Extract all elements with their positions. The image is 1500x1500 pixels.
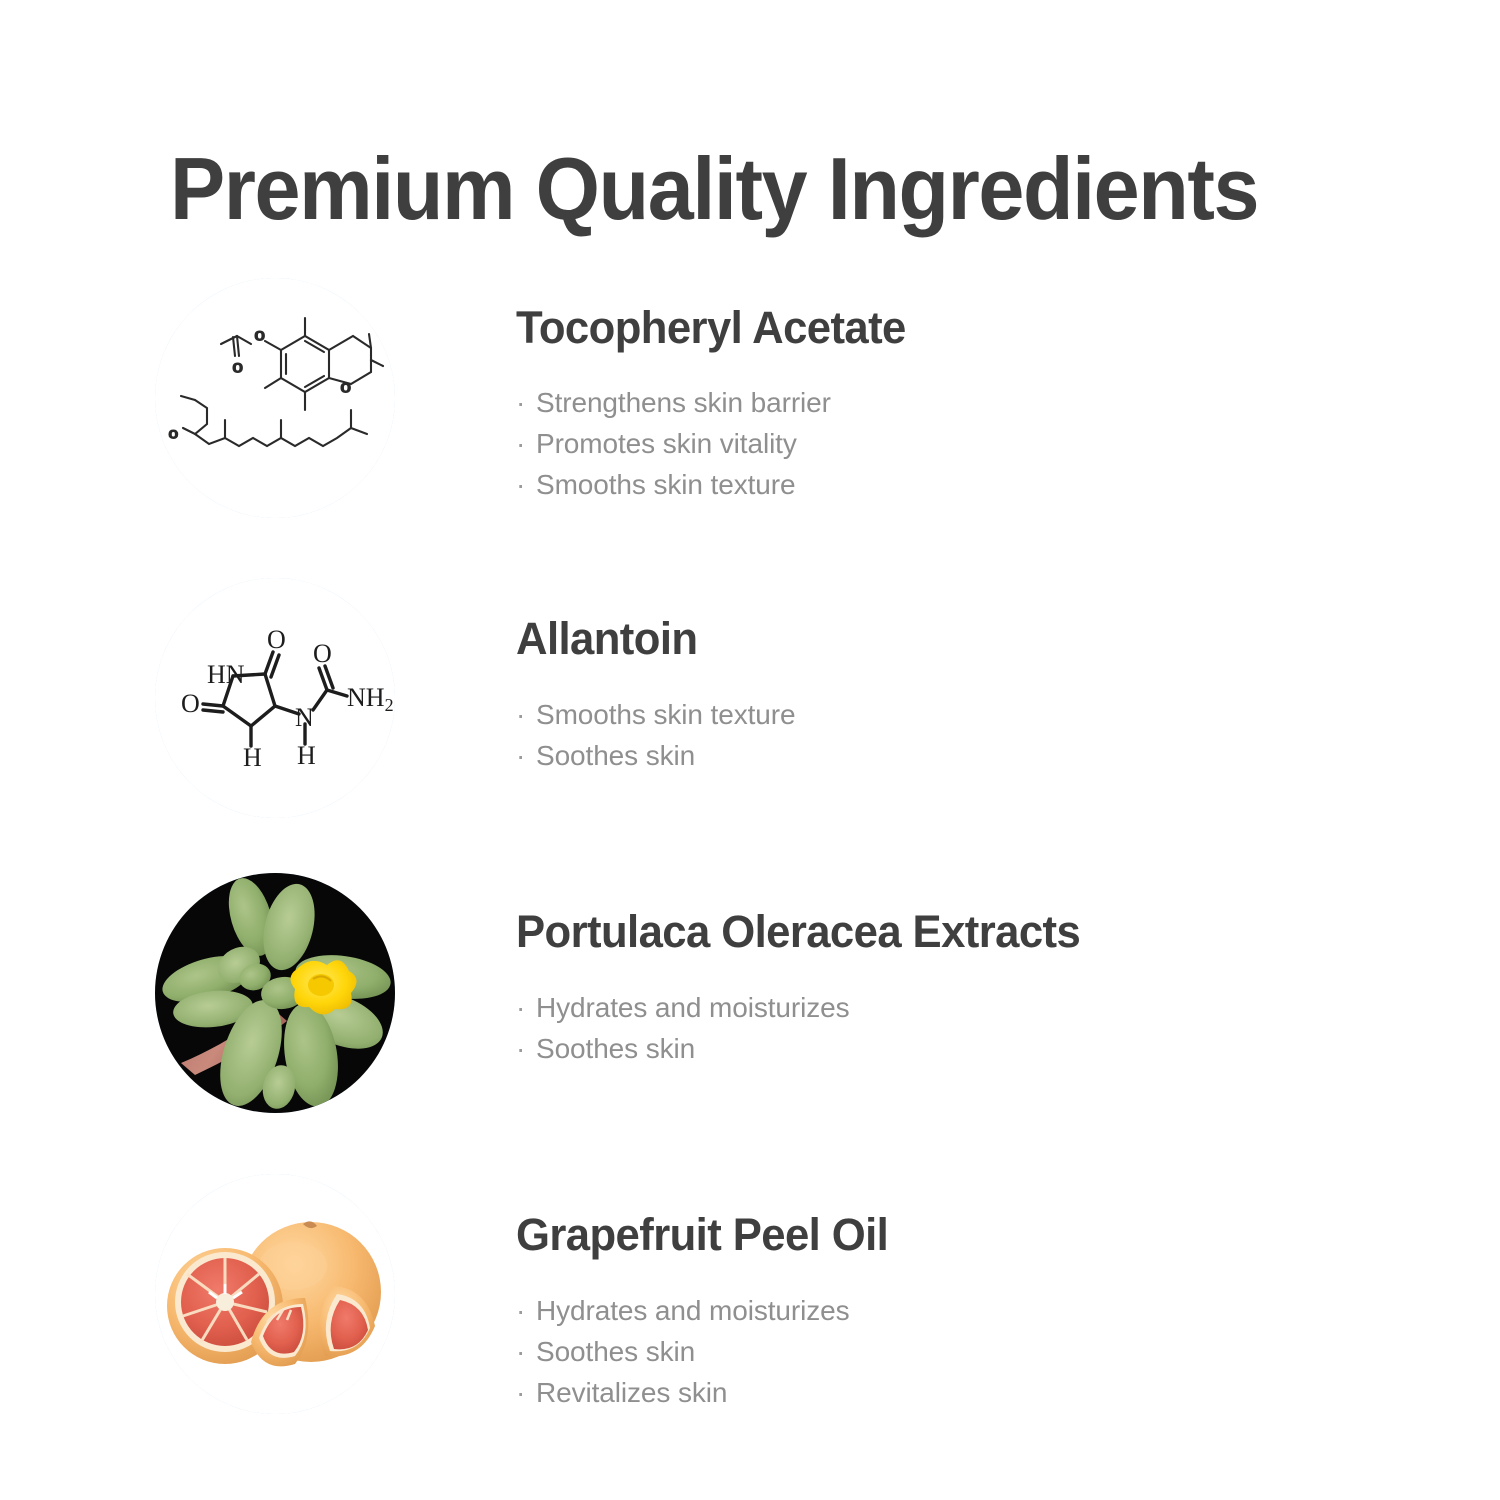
- ingredients-infographic: Premium Quality Ingredients O: [0, 0, 1500, 1500]
- benefit-text: Smooths skin texture: [536, 469, 795, 500]
- list-item: ·Soothes skin: [516, 1331, 1436, 1372]
- tocopheryl-acetate-structure-icon: O O O: [155, 278, 395, 518]
- bullet-glyph: ·: [516, 1372, 536, 1413]
- ingredient-text-column: Allantoin ·Smooths skin texture ·Soothes…: [516, 578, 1436, 776]
- benefit-list: ·Smooths skin texture ·Soothes skin: [516, 694, 1436, 776]
- bullet-glyph: ·: [516, 1290, 536, 1331]
- list-item: ·Hydrates and moisturizes: [516, 1290, 1436, 1331]
- ingredient-text-column: Tocopheryl Acetate ·Strengthens skin bar…: [516, 278, 1436, 505]
- list-item: ·Smooths skin texture: [516, 694, 1436, 735]
- list-item: ·Revitalizes skin: [516, 1372, 1436, 1413]
- bullet-glyph: ·: [516, 464, 536, 505]
- benefit-text: Soothes skin: [536, 740, 695, 771]
- list-item: ·Hydrates and moisturizes: [516, 987, 1436, 1028]
- svg-text:O: O: [255, 328, 264, 343]
- bullet-glyph: ·: [516, 1028, 536, 1069]
- benefit-list: ·Hydrates and moisturizes ·Soothes skin …: [516, 1290, 1436, 1413]
- bullet-glyph: ·: [516, 423, 536, 464]
- ingredient-text-column: Portulaca Oleracea Extracts ·Hydrates an…: [516, 873, 1436, 1069]
- svg-text:O: O: [341, 380, 350, 395]
- atom-label-o: O: [267, 625, 286, 654]
- bullet-glyph: ·: [516, 694, 536, 735]
- atom-label-hn: HN: [207, 660, 245, 689]
- atom-label-h: H: [243, 743, 262, 772]
- svg-text:O: O: [169, 427, 178, 441]
- bullet-glyph: ·: [516, 735, 536, 776]
- list-item: ·Promotes skin vitality: [516, 423, 1436, 464]
- bullet-glyph: ·: [516, 987, 536, 1028]
- list-item: ·Soothes skin: [516, 1028, 1436, 1069]
- benefit-text: Hydrates and moisturizes: [536, 1295, 850, 1326]
- benefit-text: Soothes skin: [536, 1336, 695, 1367]
- ingredient-name: Grapefruit Peel Oil: [516, 1211, 1408, 1258]
- purslane-plant-photo-icon: [155, 873, 395, 1113]
- ingredient-name: Tocopheryl Acetate: [516, 304, 1408, 351]
- allantoin-structure-icon: HN O O H N H O NH2: [155, 578, 395, 818]
- atom-label-h: H: [297, 741, 316, 770]
- ingredient-text-column: Grapefruit Peel Oil ·Hydrates and moistu…: [516, 1174, 1436, 1413]
- benefit-text: Soothes skin: [536, 1033, 695, 1064]
- bullet-glyph: ·: [516, 382, 536, 423]
- bullet-glyph: ·: [516, 1331, 536, 1372]
- ingredient-image-allantoin: HN O O H N H O NH2: [155, 578, 395, 818]
- svg-text:O: O: [233, 360, 242, 375]
- ingredient-image-grapefruit: [155, 1174, 395, 1414]
- benefit-text: Strengthens skin barrier: [536, 387, 831, 418]
- ingredient-image-tocopheryl-acetate: O O O: [155, 278, 395, 518]
- benefit-list: ·Hydrates and moisturizes ·Soothes skin: [516, 987, 1436, 1069]
- page-title: Premium Quality Ingredients: [170, 145, 1258, 233]
- ingredient-name: Allantoin: [516, 615, 1408, 662]
- list-item: ·Strengthens skin barrier: [516, 382, 1436, 423]
- ingredient-image-portulaca: [155, 873, 395, 1113]
- benefit-text: Smooths skin texture: [536, 699, 795, 730]
- benefit-list: ·Strengthens skin barrier ·Promotes skin…: [516, 382, 1436, 505]
- atom-label-n: N: [295, 703, 314, 732]
- list-item: ·Smooths skin texture: [516, 464, 1436, 505]
- ingredient-name: Portulaca Oleracea Extracts: [516, 908, 1408, 955]
- benefit-text: Revitalizes skin: [536, 1377, 727, 1408]
- atom-label-o: O: [313, 639, 332, 668]
- grapefruit-photo-icon: [155, 1174, 395, 1414]
- benefit-text: Promotes skin vitality: [536, 428, 797, 459]
- benefit-text: Hydrates and moisturizes: [536, 992, 850, 1023]
- atom-label-o: O: [181, 689, 200, 718]
- list-item: ·Soothes skin: [516, 735, 1436, 776]
